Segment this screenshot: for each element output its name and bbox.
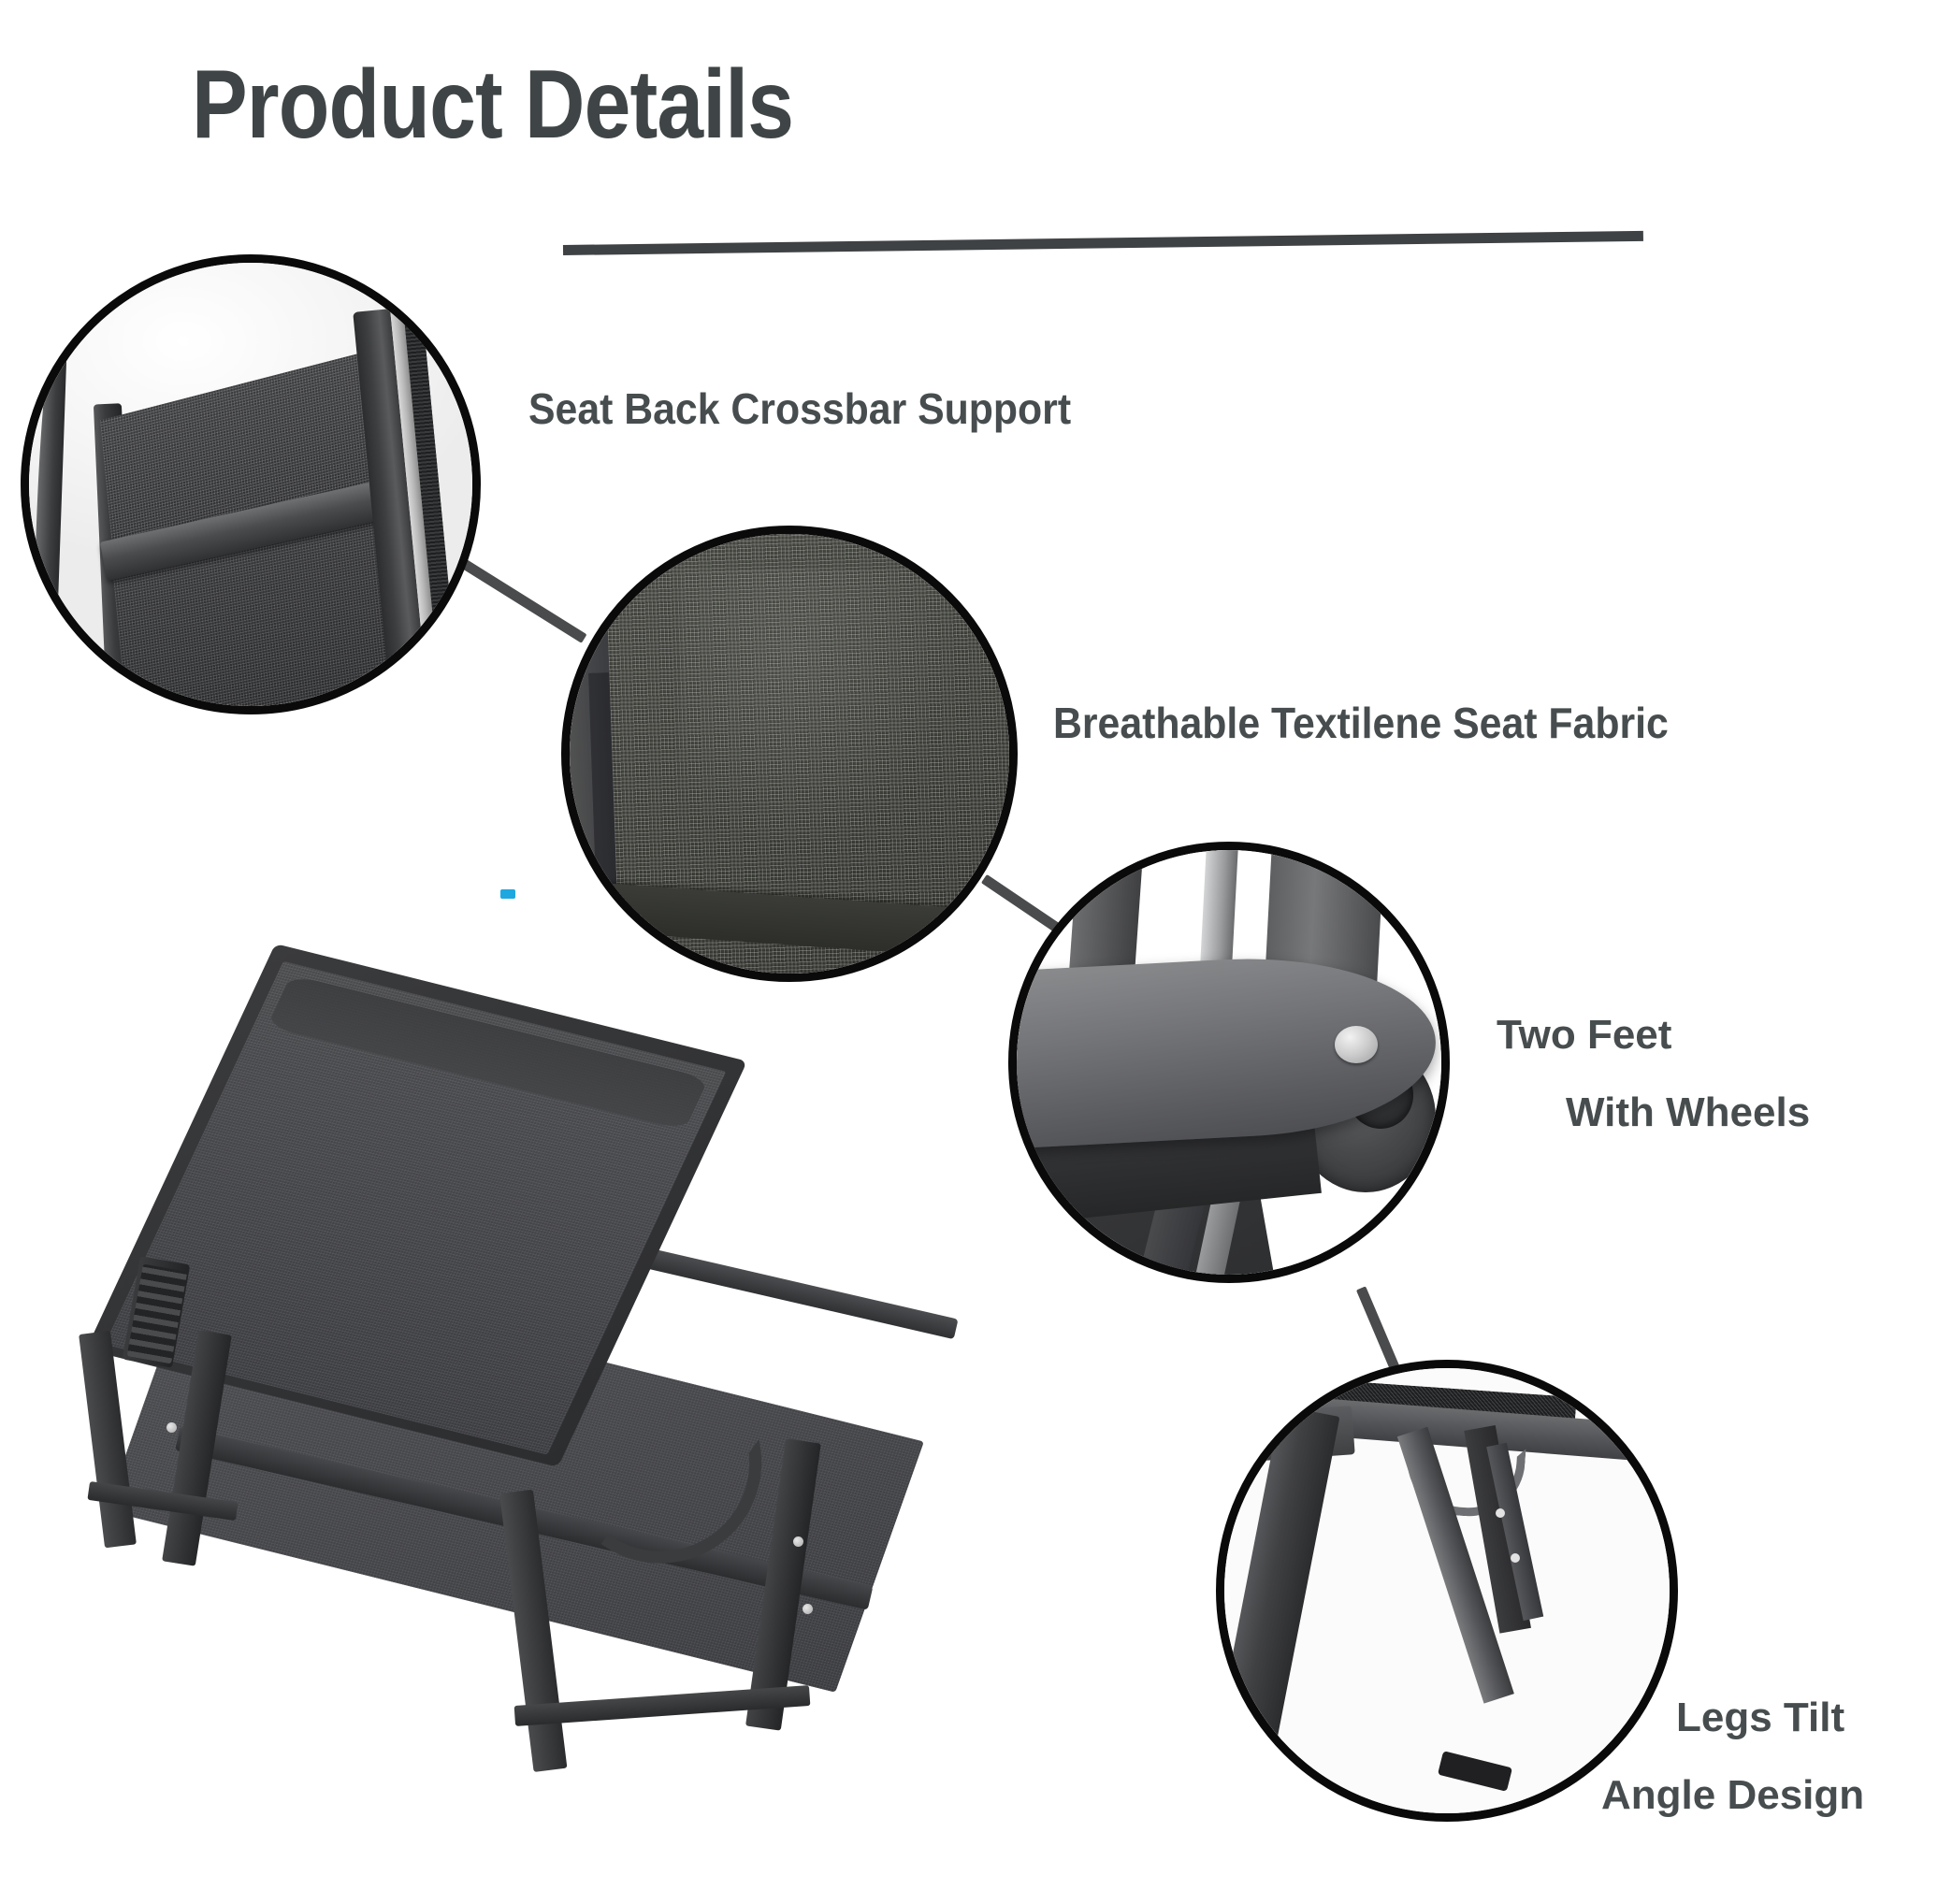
label-line-1: Legs Tilt xyxy=(1676,1695,1844,1740)
callout-label-seat-back-crossbar: Seat Back Crossbar Support xyxy=(528,385,1071,434)
product-details-infographic: Product Details xyxy=(0,0,1938,1904)
blue-marker-dot xyxy=(500,889,515,899)
callout-label-two-feet-with-wheels: Two Feet With Wheels xyxy=(1497,1012,1810,1136)
callout-label-legs-tilt-angle-design: Legs Tilt Angle Design xyxy=(1676,1695,1864,1819)
callout-label-textilene-fabric: Breathable Textilene Seat Fabric xyxy=(1053,700,1669,748)
leader-line-crossbar-to-fabric xyxy=(459,558,586,643)
chaise-lounge-product-photo xyxy=(37,893,1160,1828)
callout-circle-seat-back-crossbar xyxy=(21,254,481,714)
title-divider-rule xyxy=(563,231,1643,255)
callout-circle-tilted-legs xyxy=(1216,1360,1678,1822)
label-line-2: Angle Design xyxy=(1601,1772,1864,1818)
seat-back-crossbar-photo xyxy=(27,261,474,708)
page-title: Product Details xyxy=(192,54,793,156)
tilted-legs-photo xyxy=(1222,1366,1671,1815)
label-line-2: With Wheels xyxy=(1566,1089,1810,1135)
label-line-1: Two Feet xyxy=(1497,1012,1671,1058)
